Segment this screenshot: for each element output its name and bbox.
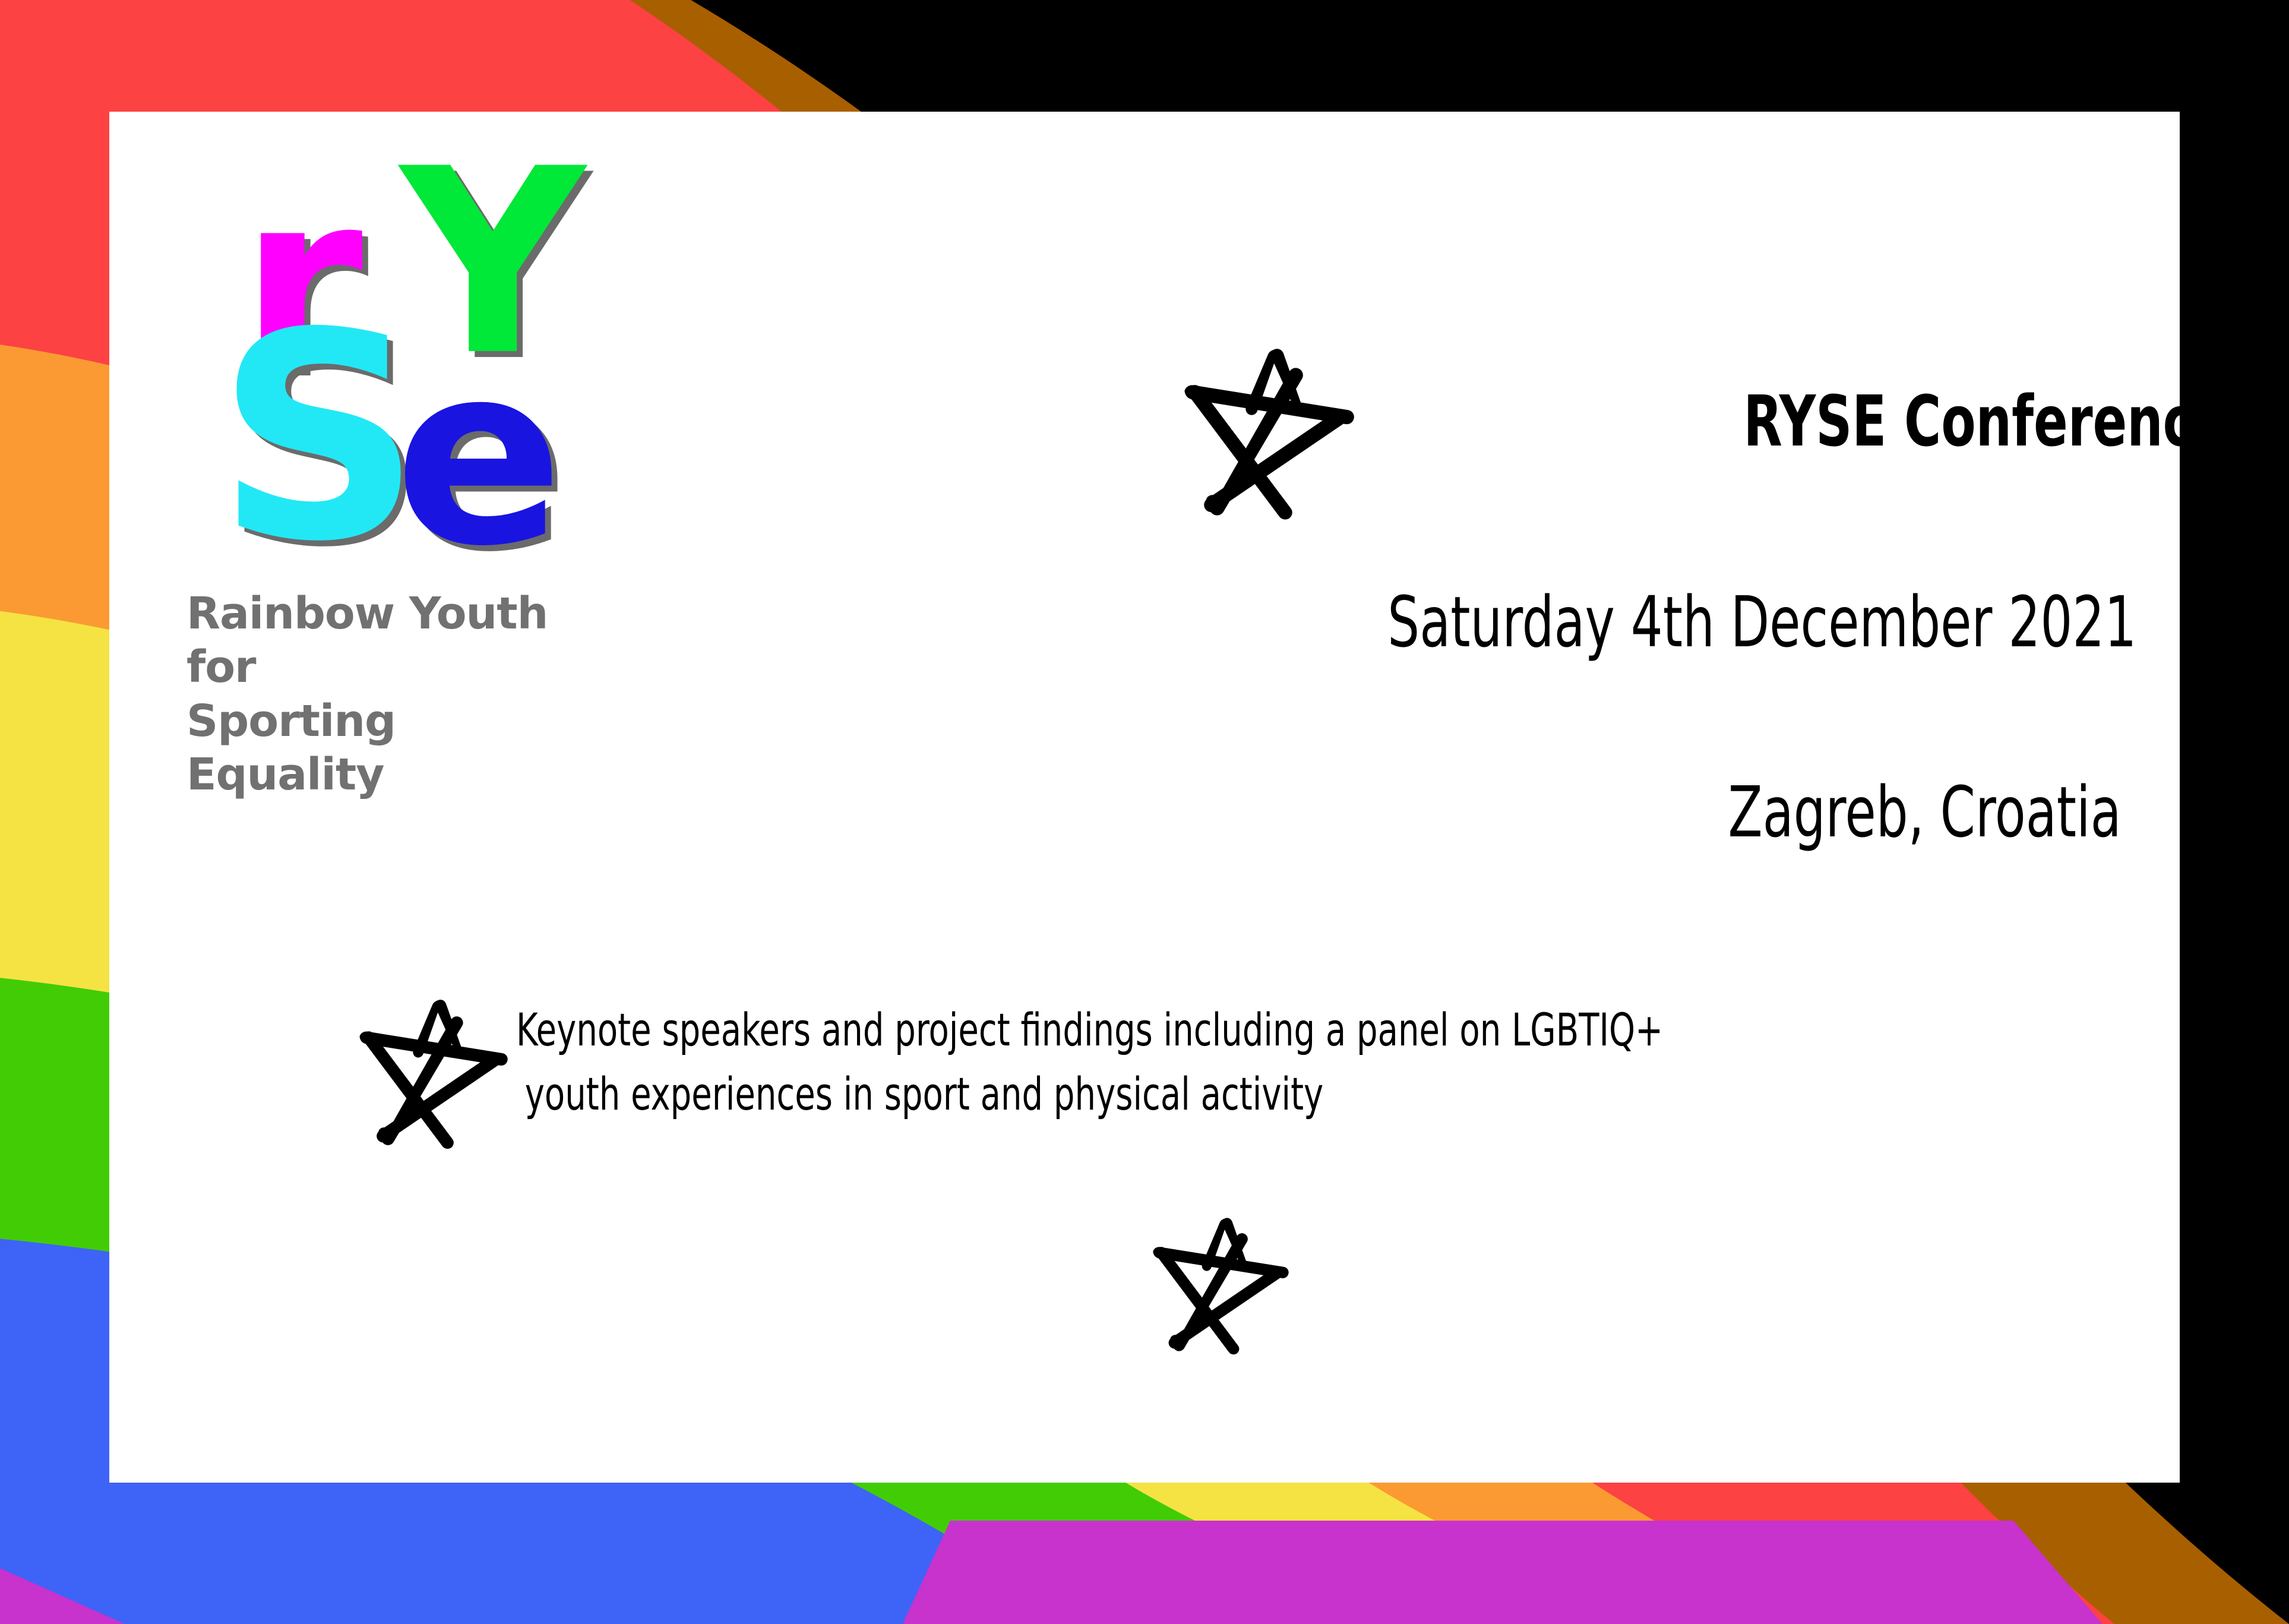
event-date: Saturday 4th December 2021 [1387, 581, 2136, 663]
logo-tagline: Rainbow Youth for Sporting Equality [186, 587, 602, 801]
star-icon [1169, 343, 1360, 522]
poster-root: r Y S e Rainbow Youth for Sporting Equal… [0, 0, 2289, 1624]
content-card: r Y S e Rainbow Youth for Sporting Equal… [109, 112, 2180, 1483]
star-icon [347, 995, 512, 1151]
logo-letter-s: S [216, 296, 422, 581]
ryse-logo-letters: r Y S e [163, 135, 626, 611]
keynote-description: Keynote speakers and project findings in… [516, 998, 2221, 1126]
logo-tagline-line1: Rainbow Youth for [186, 587, 602, 694]
ryse-logo: r Y S e Rainbow Youth for Sporting Equal… [163, 135, 626, 777]
keynote-line1: Keynote speakers and project findings in… [516, 1003, 1663, 1056]
star-icon [1143, 1214, 1291, 1356]
keynote-line2: youth experiences in sport and physical … [516, 1062, 2221, 1126]
logo-letter-e: e [394, 331, 564, 581]
logo-tagline-line2: Sporting Equality [186, 694, 602, 802]
bg-purple-shape [903, 1521, 2103, 1624]
page-title: RYSE Conference [1744, 380, 2227, 462]
event-location: Zagreb, Croatia [1728, 771, 2122, 853]
